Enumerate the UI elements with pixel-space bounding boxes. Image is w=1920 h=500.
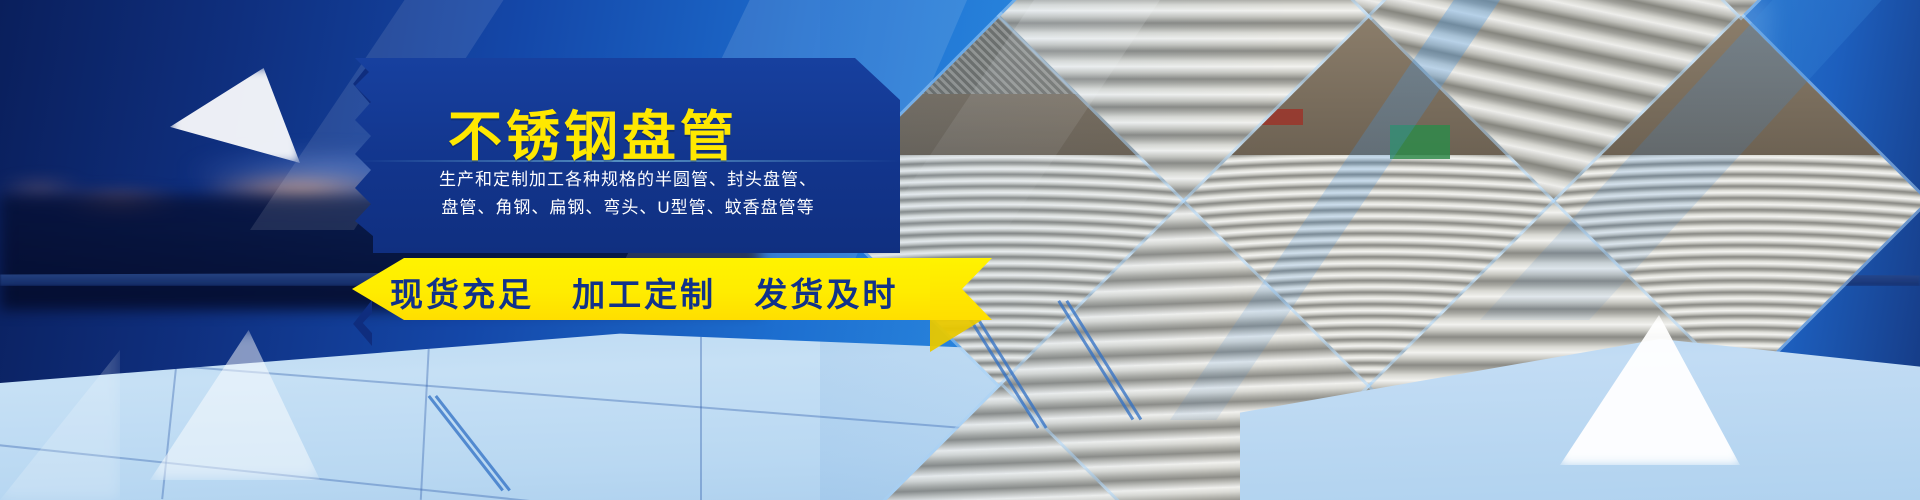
ribbon-item-stock: 现货充足	[390, 276, 534, 313]
ribbon-text: 现货充足 加工定制 发货及时	[390, 268, 950, 316]
subtitle-line-1: 生产和定制加工各种规格的半圆管、封头盘管、	[398, 166, 858, 194]
banner-subtitle: 生产和定制加工各种规格的半圆管、封头盘管、 盘管、角钢、扁钢、弯头、U型管、蚊香…	[398, 166, 858, 222]
ribbon-item-custom: 加工定制	[572, 276, 716, 313]
page-title: 不锈钢盘管	[448, 92, 738, 171]
subtitle-line-2: 盘管、角钢、扁钢、弯头、U型管、蚊香盘管等	[398, 194, 858, 222]
banner-root: 不锈钢盘管 生产和定制加工各种规格的半圆管、封头盘管、 盘管、角钢、扁钢、弯头、…	[0, 0, 1920, 500]
ribbon-item-shipping: 发货及时	[754, 276, 898, 313]
